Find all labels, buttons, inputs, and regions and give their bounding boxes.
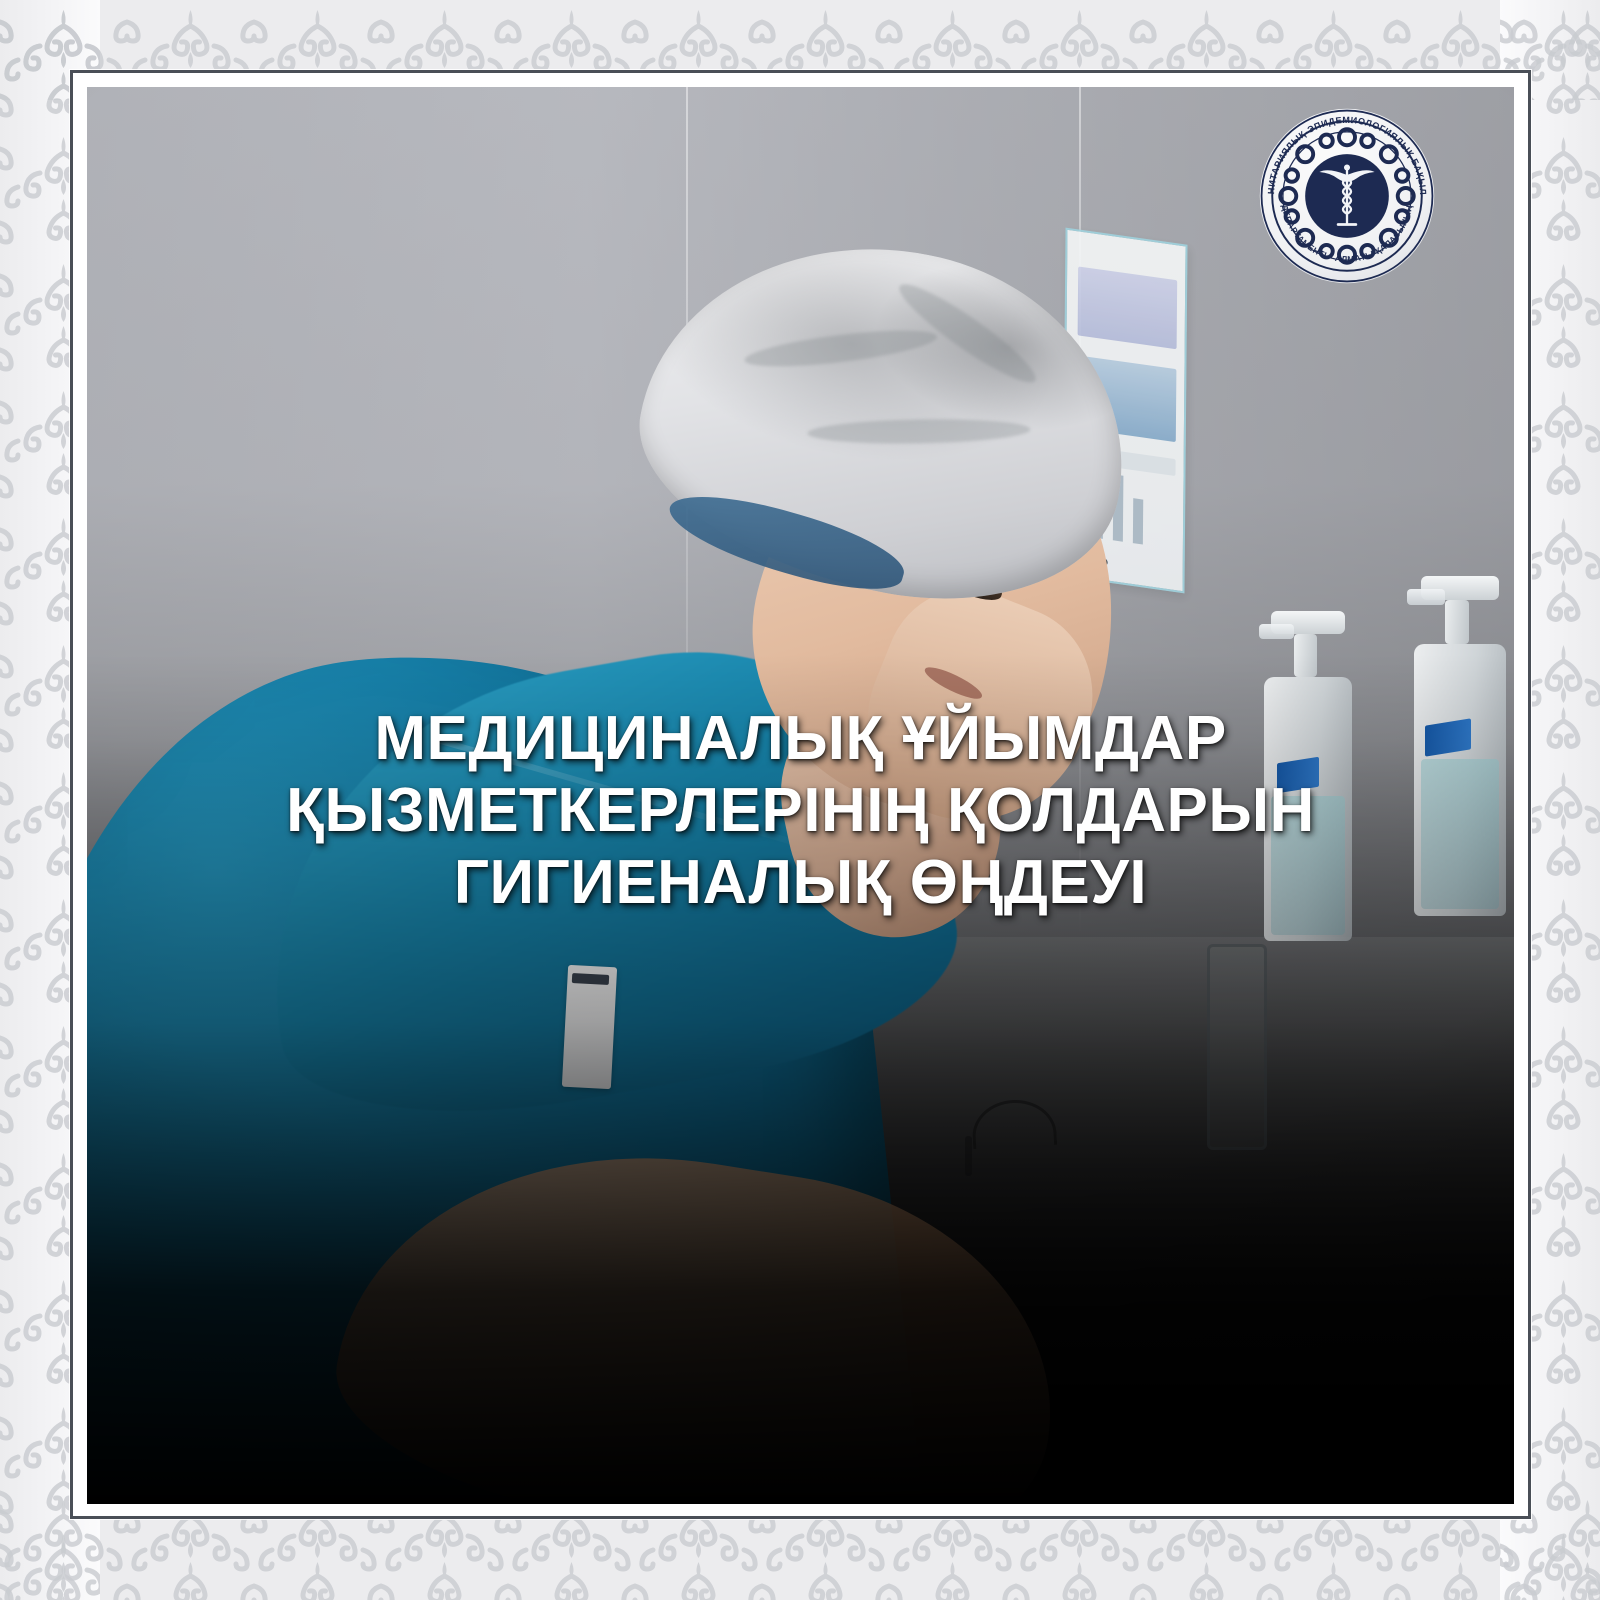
dispenser-neck xyxy=(1445,600,1469,644)
poster-bar xyxy=(1134,498,1144,544)
dispenser-spout xyxy=(1407,589,1446,604)
cap-crease xyxy=(807,418,1031,446)
dispenser-neck xyxy=(1294,634,1317,677)
dispenser-liquid xyxy=(1271,796,1345,935)
poster-page: МЕДИЦИНАЛЫҚ ҰЙЫМДАР ҚЫЗМЕТКЕРЛЕРІНІҢ ҚОЛ… xyxy=(0,0,1600,1600)
faucet-stem xyxy=(965,1136,972,1176)
cap-crease xyxy=(743,323,939,374)
organization-emblem: САНИТАРИЯЛЫҚ-ЭПИДЕМИОЛОГИЯЛЫҚ БАҚЫЛАУ ДЕ… xyxy=(1258,107,1436,285)
photo-canvas: МЕДИЦИНАЛЫҚ ҰЙЫМДАР ҚЫЗМЕТКЕРЛЕРІНІҢ ҚОЛ… xyxy=(87,87,1514,1504)
poster-band xyxy=(1078,266,1178,349)
dispenser-liquid xyxy=(1421,759,1498,909)
photo-frame: МЕДИЦИНАЛЫҚ ҰЙЫМДАР ҚЫЗМЕТКЕРЛЕРІНІҢ ҚОЛ… xyxy=(70,70,1531,1519)
soap-dispenser-right xyxy=(1414,576,1506,916)
dispenser-bracket-left xyxy=(1207,944,1267,1150)
dispenser-label xyxy=(1277,756,1319,792)
dispenser-spout xyxy=(1259,624,1294,639)
id-badge-clip xyxy=(572,973,610,985)
soap-dispenser-left xyxy=(1264,611,1352,941)
